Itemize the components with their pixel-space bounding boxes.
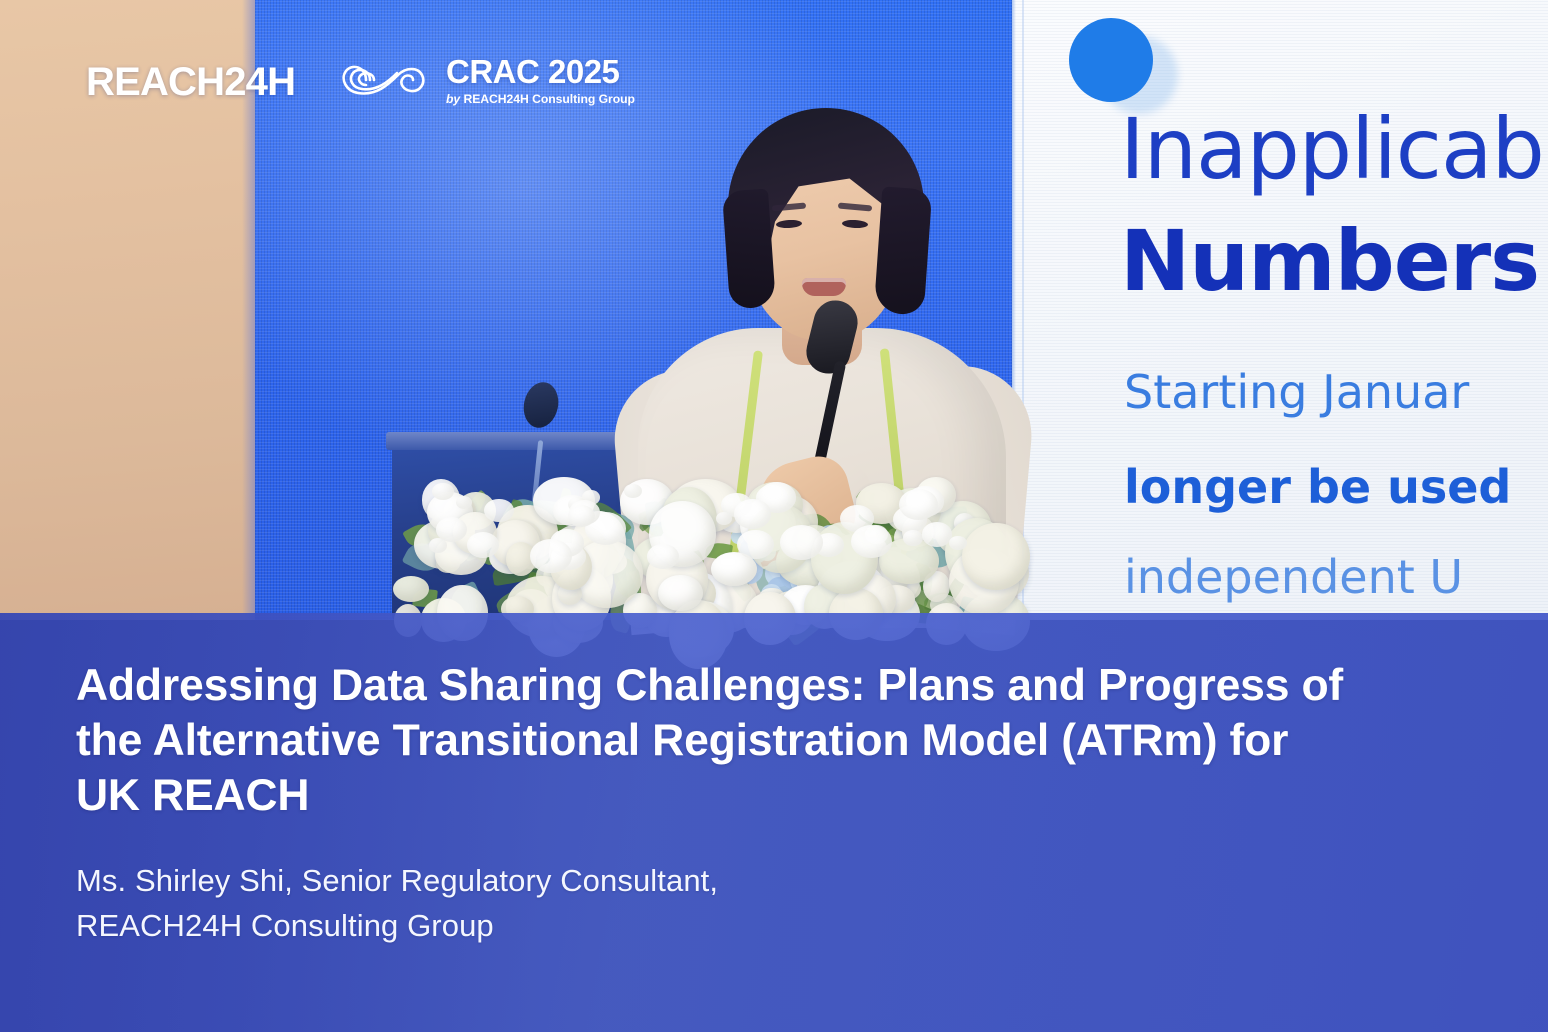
crac-tagline-prefix: by bbox=[446, 92, 463, 106]
flower-bloom bbox=[851, 525, 892, 558]
crac-2025-logo: CRAC 2025 by REACH24H Consulting Group bbox=[336, 55, 635, 105]
flower-bloom bbox=[624, 484, 642, 498]
flower-bloom bbox=[737, 530, 773, 559]
speaker-credit: Ms. Shirley Shi, Senior Regulatory Consu… bbox=[76, 858, 1366, 948]
flower-bloom bbox=[734, 499, 770, 528]
flower-bloom bbox=[962, 523, 1030, 590]
speaker-mouth bbox=[802, 278, 846, 296]
flower-bloom bbox=[568, 505, 596, 527]
flower-bloom bbox=[530, 539, 572, 573]
caption-overlay-panel: Addressing Data Sharing Challenges: Plan… bbox=[0, 613, 1548, 1032]
slide-body-line1: Starting Januar bbox=[1124, 365, 1469, 419]
flower-bloom bbox=[780, 525, 823, 560]
floral-arrangement bbox=[388, 446, 988, 622]
presentation-title: Addressing Data Sharing Challenges: Plan… bbox=[76, 658, 1346, 823]
presentation-photo-card: Inapplicab Numbers Starting Januar longe… bbox=[0, 0, 1548, 1032]
flower-bloom bbox=[484, 499, 514, 523]
brand-bar: REACH24H CRAC 2025 by REACH24H Consultin… bbox=[0, 0, 1548, 140]
speaker-hair-right bbox=[874, 186, 933, 315]
speaker-hair-left bbox=[722, 189, 776, 310]
flower-bloom bbox=[903, 530, 923, 546]
caption-content: Addressing Data Sharing Challenges: Plan… bbox=[76, 658, 1366, 948]
slide-body-line2: longer be used bbox=[1124, 460, 1511, 514]
flower-bloom bbox=[647, 544, 678, 569]
flower-bloom bbox=[393, 576, 429, 602]
crac-logo-text: CRAC 2025 by REACH24H Consulting Group bbox=[446, 55, 635, 105]
flower-bloom bbox=[922, 522, 953, 547]
crac-logo-tagline: by REACH24H Consulting Group bbox=[446, 93, 635, 105]
slide-heading-line2: Numbers bbox=[1120, 212, 1539, 310]
infinity-spiral-icon bbox=[336, 55, 432, 105]
crac-logo-title: CRAC 2025 bbox=[446, 55, 635, 88]
slide-body-line3: independent U bbox=[1124, 550, 1463, 604]
flower-bloom bbox=[899, 489, 938, 520]
crac-tagline-company: REACH24H Consulting Group bbox=[463, 92, 634, 106]
flower-bloom bbox=[432, 483, 454, 501]
reach24h-logo: REACH24H bbox=[86, 60, 295, 105]
